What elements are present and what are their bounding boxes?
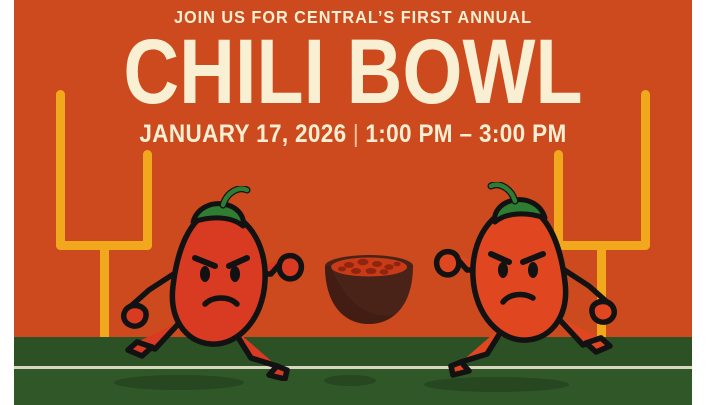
chili-bowl-icon	[319, 248, 419, 330]
event-date: JANUARY 17, 2026	[139, 120, 346, 148]
chili-bowl-flyer: JOIN US FOR CENTRAL’S FIRST ANNUAL CHILI…	[14, 0, 692, 405]
running-chili-pepper-right	[409, 182, 619, 382]
datetime-separator: |	[347, 120, 366, 148]
bowl-shadow	[324, 375, 376, 386]
event-title: CHILI BOWL	[68, 27, 638, 117]
running-chili-pepper-left	[119, 186, 329, 381]
headline-block: JOIN US FOR CENTRAL’S FIRST ANNUAL CHILI…	[14, 0, 692, 149]
event-datetime: JANUARY 17, 2026|1:00 PM – 3:00 PM	[48, 120, 658, 149]
event-time: 1:00 PM – 3:00 PM	[365, 120, 566, 148]
